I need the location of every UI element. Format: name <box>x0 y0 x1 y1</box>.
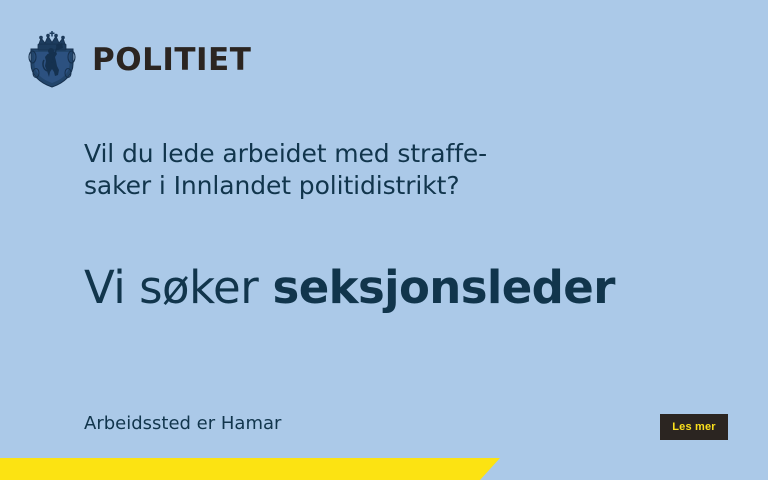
kicker-line-1: Vil du lede arbeidet med straffe- <box>84 138 624 170</box>
yellow-accent-band <box>0 458 500 480</box>
read-more-label: Les mer <box>672 422 716 433</box>
kicker-question: Vil du lede arbeidet med straffe- saker … <box>84 138 624 202</box>
headline: Vi søker seksjonsleder <box>84 264 615 311</box>
read-more-button[interactable]: Les mer <box>660 414 728 440</box>
kicker-line-2: saker i Innlandet politidistrikt? <box>84 170 624 202</box>
norwegian-coat-of-arms-icon <box>26 31 78 89</box>
brand-lockup: POLITIET <box>26 31 251 89</box>
politiet-wordmark: POLITIET <box>92 45 251 76</box>
workplace-location: Arbeidssted er Hamar <box>84 413 281 434</box>
headline-role: seksjonsleder <box>273 261 615 314</box>
politiet-recruitment-banner: POLITIET Vil du lede arbeidet med straff… <box>0 0 768 480</box>
headline-lead: Vi søker <box>84 261 258 314</box>
